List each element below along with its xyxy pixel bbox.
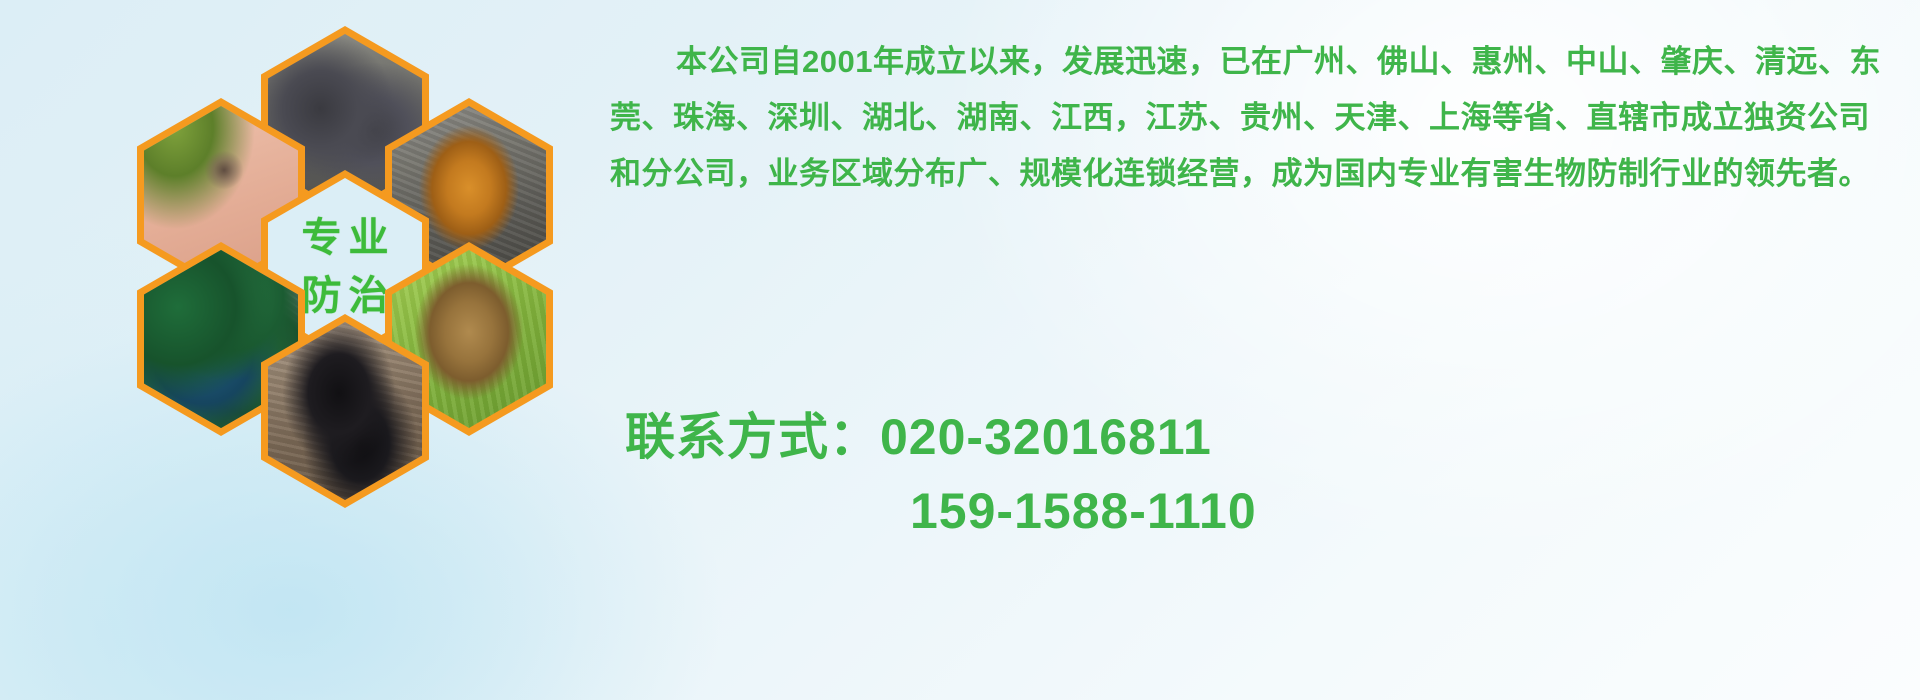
contact-line-mobile[interactable]: 159-1588-1110 — [625, 474, 1257, 548]
promo-banner: 专业 防治 本公司自2001年成立以来，发展迅速，已在广州、佛山、惠州、中山、肇… — [0, 0, 1920, 700]
ant-photo — [268, 322, 422, 500]
hexagon-image-cluster: 专业 防治 — [95, 10, 595, 570]
company-intro-block: 本公司自2001年成立以来，发展迅速，已在广州、佛山、惠州、中山、肇庆、清远、东… — [610, 34, 1910, 202]
contact-block: 联系方式：020-32016811 159-1588-1110 — [625, 400, 1257, 548]
company-intro-paragraph: 本公司自2001年成立以来，发展迅速，已在广州、佛山、惠州、中山、肇庆、清远、东… — [610, 34, 1895, 202]
logo-text-line1: 专业 — [295, 209, 396, 267]
contact-line-landline[interactable]: 联系方式：020-32016811 — [625, 400, 1257, 474]
